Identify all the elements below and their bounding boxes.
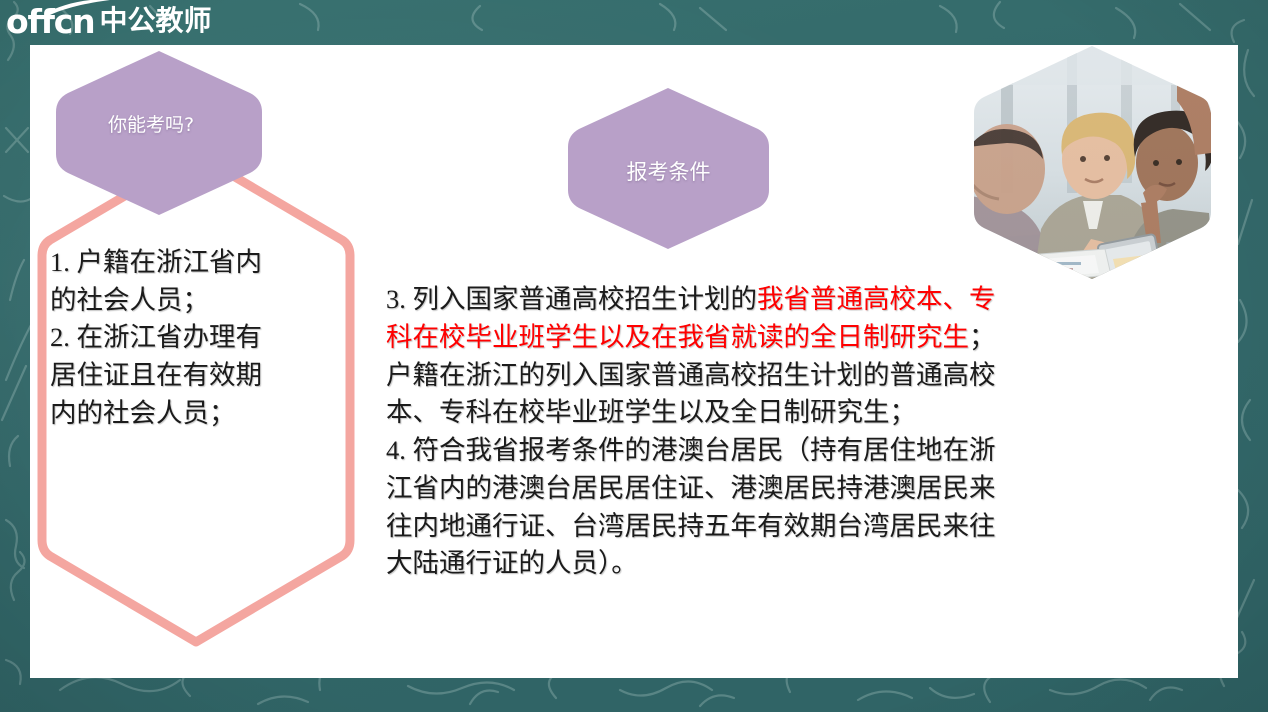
people-meeting-photo	[971, 43, 1214, 282]
plain-text: 江省内的港澳台居民居住证、港澳居民持港澳居民来	[386, 473, 996, 503]
plain-text: 户籍在浙江的列入国家普通高校招生计划的普通高校	[386, 360, 996, 390]
logo-text-en: offcn	[6, 5, 96, 38]
brand-logo: offcn 中公教师	[6, 2, 211, 40]
logo-text-cn: 中公教师	[99, 7, 211, 35]
right-text-line: 往内地通行证、台湾居民持五年有效期台湾居民来往	[386, 508, 1156, 546]
right-text-block: 3. 列入国家普通高校招生计划的我省普通高校本、专科在校毕业班学生以及在我省就读…	[386, 281, 1156, 583]
right-text-line: 户籍在浙江的列入国家普通高校招生计划的普通高校	[386, 357, 1156, 395]
hexagon-conditions: 报考条件	[566, 86, 771, 251]
left-text-line: 居住证且在有效期	[50, 357, 338, 395]
plain-text: 3. 列入国家普通高校招生计划的	[386, 284, 757, 314]
left-text-line: 1. 户籍在浙江省内	[50, 244, 338, 282]
right-text-line: 本、专科在校毕业班学生以及全日制研究生；	[386, 394, 1156, 432]
hexagon-question: 你能考吗?	[54, 49, 264, 217]
right-text-line: 3. 列入国家普通高校招生计划的我省普通高校本、专	[386, 281, 1156, 319]
right-text-line: 科在校毕业班学生以及在我省就读的全日制研究生；	[386, 319, 1156, 357]
left-text-line: 的社会人员；	[50, 282, 338, 320]
hexagon-conditions-label: 报考条件	[627, 156, 711, 186]
hexagon-question-label: 你能考吗?	[108, 110, 194, 137]
right-text-line: 4. 符合我省报考条件的港澳台居民（持有居住地在浙	[386, 432, 1156, 470]
plain-text: 本、专科在校毕业班学生以及全日制研究生；	[386, 397, 916, 427]
left-text-block: 1. 户籍在浙江省内 的社会人员； 2. 在浙江省办理有 居住证且在有效期 内的…	[50, 244, 338, 432]
left-text-line: 2. 在浙江省办理有	[50, 319, 338, 357]
left-text-line: 内的社会人员；	[50, 395, 338, 433]
highlighted-text: 科在校毕业班学生以及在我省就读的全日制研究生	[386, 322, 969, 352]
presentation-slide: offcn 中公教师 你能考吗? 报考条件	[0, 0, 1268, 712]
plain-text: 4. 符合我省报考条件的港澳台居民（持有居住地在浙	[386, 435, 996, 465]
highlighted-text: 我省普通高校本、专	[757, 284, 996, 314]
right-text-line: 大陆通行证的人员）。	[386, 545, 1156, 583]
right-text-line: 江省内的港澳台居民居住证、港澳居民持港澳居民来	[386, 470, 1156, 508]
plain-text: 往内地通行证、台湾居民持五年有效期台湾居民来往	[386, 511, 996, 541]
plain-text: 大陆通行证的人员）。	[386, 548, 638, 578]
plain-text: ；	[969, 322, 996, 352]
